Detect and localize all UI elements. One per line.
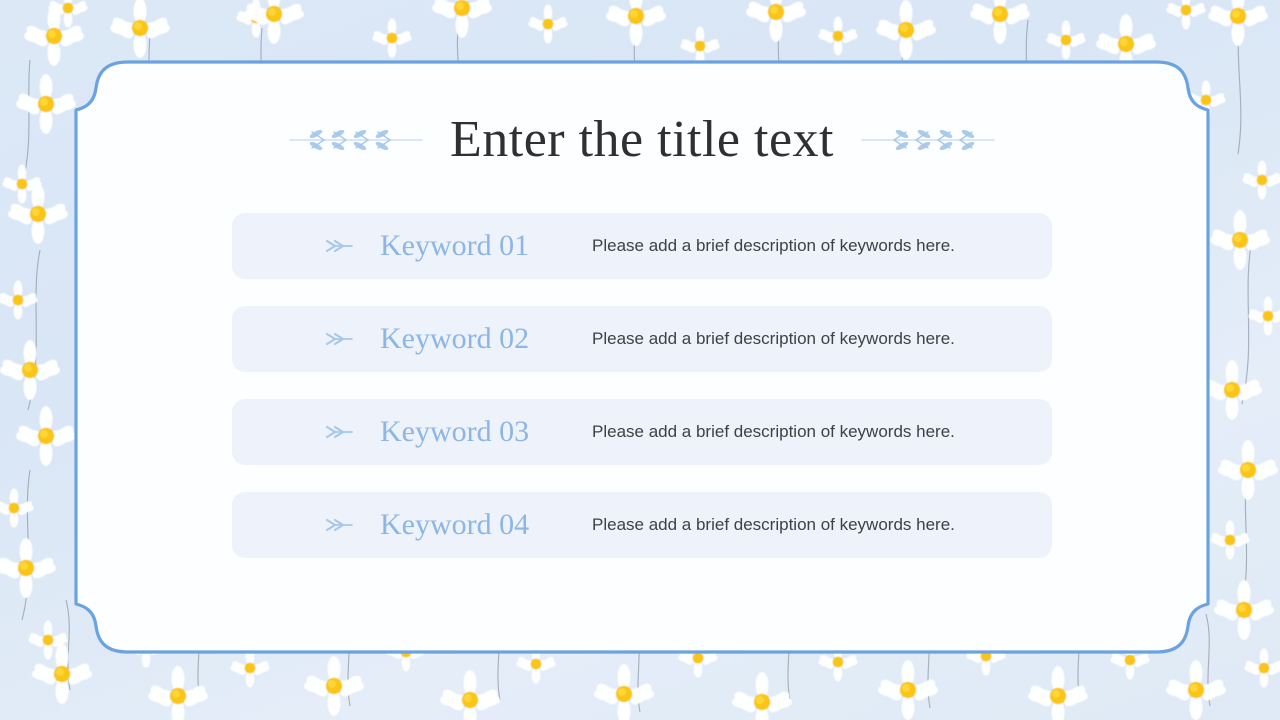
double-chevron-right-icon (324, 330, 354, 348)
keyword-description: Please add a brief description of keywor… (592, 422, 955, 442)
keyword-row-2[interactable]: Keyword 02 Please add a brief descriptio… (232, 306, 1052, 372)
double-chevron-right-icon (324, 237, 354, 255)
title-row: Enter the title text (128, 110, 1156, 169)
page-title: Enter the title text (450, 110, 834, 169)
keyword-label: Keyword 02 (380, 322, 592, 356)
leafy-branch-icon-left (288, 123, 424, 157)
keyword-label: Keyword 04 (380, 508, 592, 542)
keyword-row-1[interactable]: Keyword 01 Please add a brief descriptio… (232, 213, 1052, 279)
slide-canvas: Enter the title text (0, 0, 1280, 720)
content-panel: Enter the title text (72, 58, 1212, 656)
keyword-list: Keyword 01 Please add a brief descriptio… (232, 213, 1052, 558)
double-chevron-right-icon (324, 516, 354, 534)
double-chevron-right-icon (324, 423, 354, 441)
keyword-label: Keyword 01 (380, 229, 592, 263)
keyword-label: Keyword 03 (380, 415, 592, 449)
keyword-row-4[interactable]: Keyword 04 Please add a brief descriptio… (232, 492, 1052, 558)
keyword-description: Please add a brief description of keywor… (592, 236, 955, 256)
leafy-branch-icon-right (860, 123, 996, 157)
keyword-description: Please add a brief description of keywor… (592, 515, 955, 535)
keyword-row-3[interactable]: Keyword 03 Please add a brief descriptio… (232, 399, 1052, 465)
keyword-description: Please add a brief description of keywor… (592, 329, 955, 349)
